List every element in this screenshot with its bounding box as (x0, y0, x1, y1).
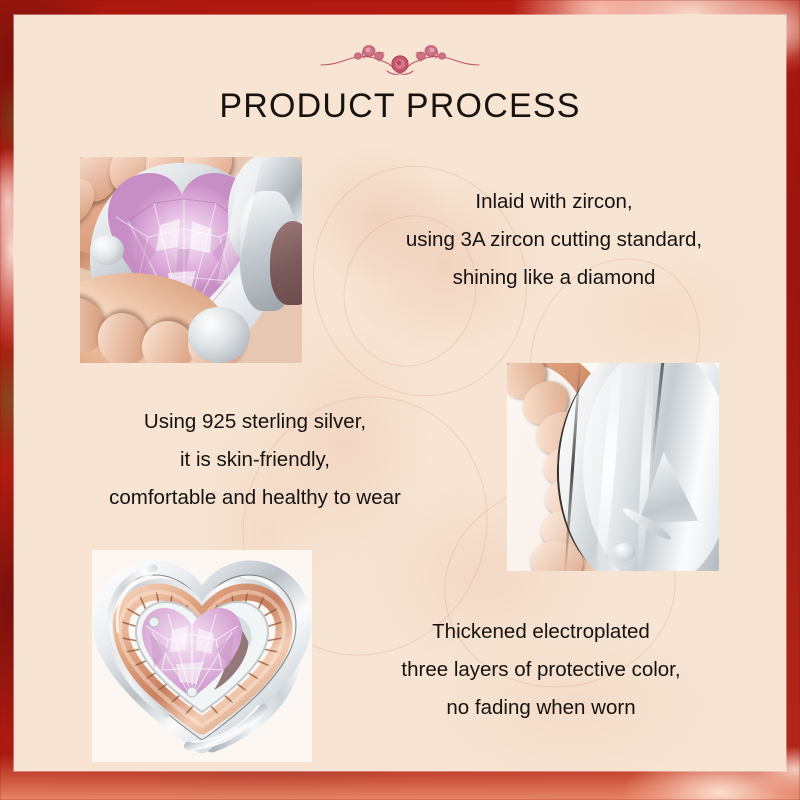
feature-line: comfortable and healthy to wear (60, 479, 450, 517)
feature-line: three layers of protective color, (366, 651, 716, 689)
feature-text-plating: Thickened electroplated three layers of … (366, 613, 716, 727)
feature-line: Using 925 sterling silver, (60, 403, 450, 441)
page-title: PRODUCT PROCESS (14, 87, 786, 126)
feature-line: no fading when worn (366, 689, 716, 727)
heart-charm-full-view-image (92, 550, 312, 762)
content-panel: PRODUCT PROCESS (14, 15, 786, 771)
infographic-frame: PRODUCT PROCESS (0, 0, 800, 800)
macro-pink-heart-zircon-image (80, 157, 302, 363)
feature-text-silver: Using 925 sterling silver, it is skin-fr… (60, 403, 450, 517)
feature-text-zircon: Inlaid with zircon, using 3A zircon cutt… (354, 183, 754, 297)
feature-line: using 3A zircon cutting standard, (354, 221, 754, 259)
feature-line: Thickened electroplated (366, 613, 716, 651)
floral-rose-divider-icon (14, 43, 786, 77)
feature-line: shining like a diamond (354, 259, 754, 297)
macro-rope-and-polished-silver-image (507, 363, 719, 571)
feature-line: Inlaid with zircon, (354, 183, 754, 221)
feature-line: it is skin-friendly, (60, 441, 450, 479)
